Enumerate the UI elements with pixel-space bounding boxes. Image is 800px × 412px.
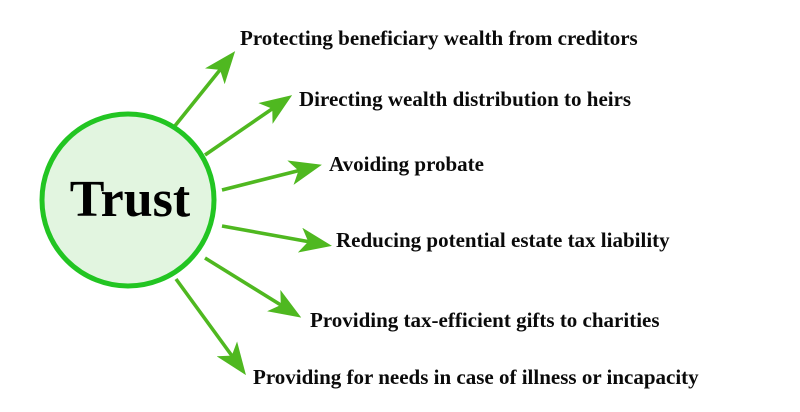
spoke-arrow-4 <box>222 226 327 245</box>
diagram-canvas: Trust Protecting beneficiary wealth from… <box>0 0 800 412</box>
spoke-arrow-5 <box>205 258 297 315</box>
spoke-arrow-6 <box>176 279 243 371</box>
radial-diagram: Trust Protecting beneficiary wealth from… <box>0 0 800 412</box>
spoke-label-1: Protecting beneficiary wealth from credi… <box>240 26 638 50</box>
spoke-label-3: Avoiding probate <box>329 152 484 176</box>
spoke-labels: Protecting beneficiary wealth from credi… <box>240 26 699 389</box>
hub-label: Trust <box>70 171 191 228</box>
spoke-arrow-2 <box>205 98 288 155</box>
spoke-label-4: Reducing potential estate tax liability <box>336 228 670 252</box>
spoke-label-2: Directing wealth distribution to heirs <box>299 87 631 111</box>
spoke-label-5: Providing tax-efficient gifts to chariti… <box>310 308 660 332</box>
spoke-arrow-3 <box>222 166 317 190</box>
hub-node[interactable]: Trust <box>42 114 214 286</box>
spoke-label-6: Providing for needs in case of illness o… <box>253 365 699 389</box>
spoke-arrow-1 <box>170 55 232 132</box>
